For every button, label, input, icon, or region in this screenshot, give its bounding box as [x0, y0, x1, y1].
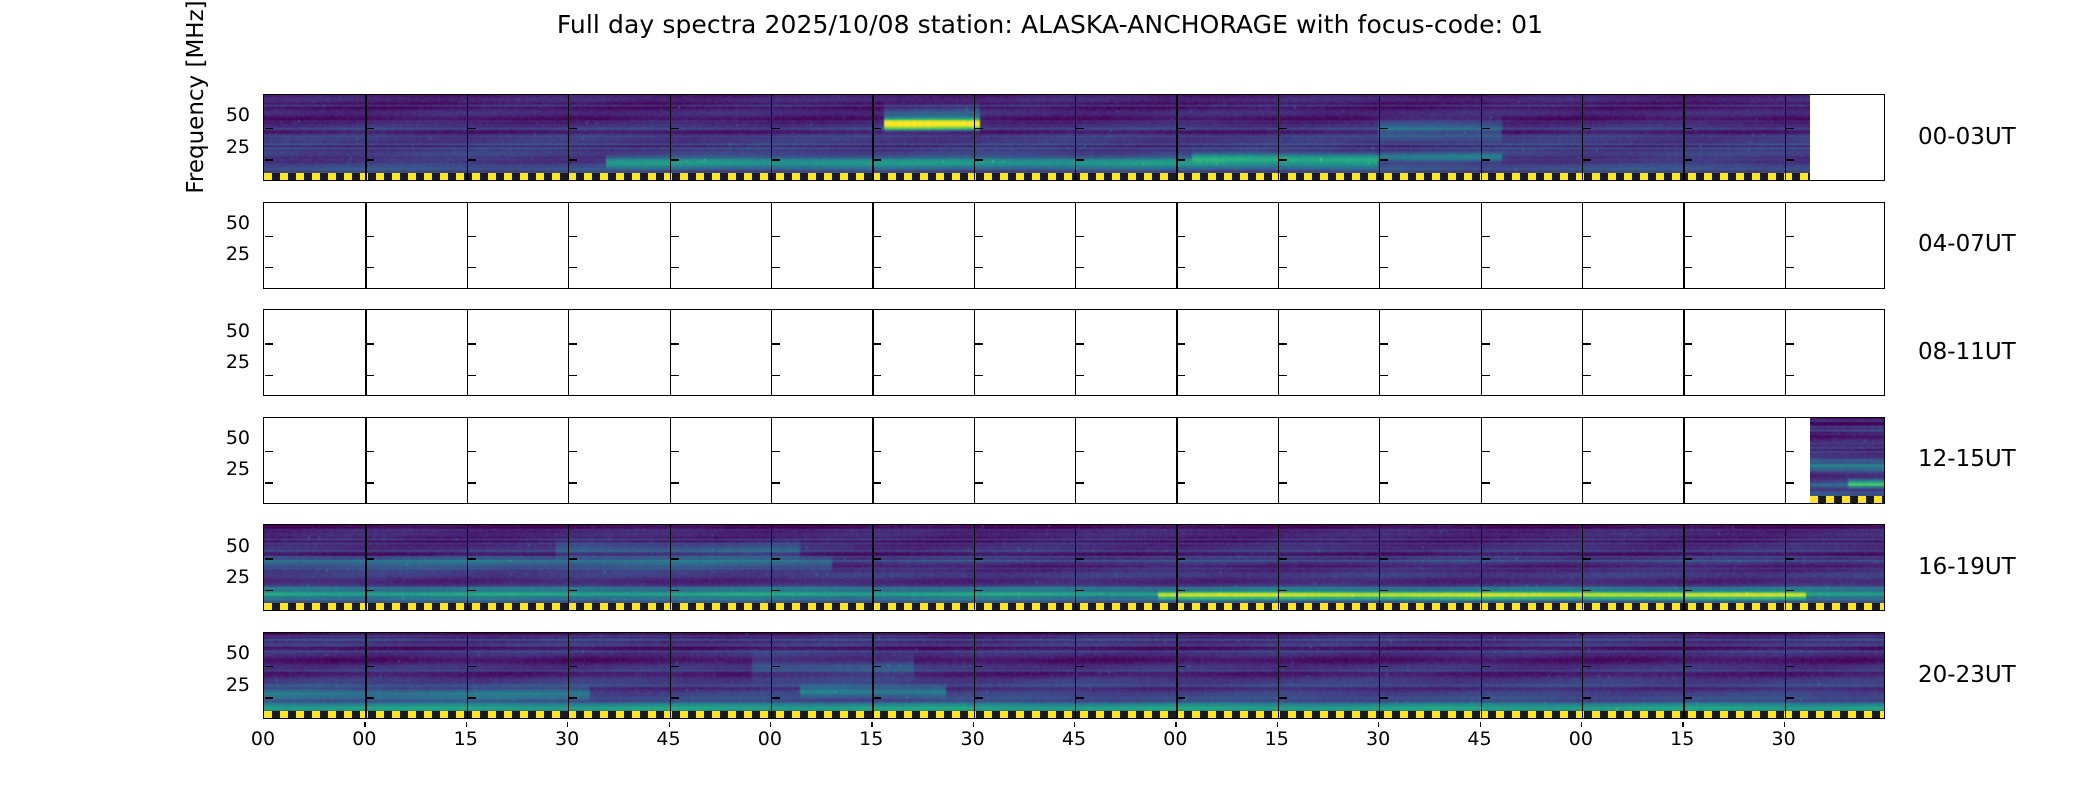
hour-separator	[1785, 525, 1786, 610]
hour-separator	[1582, 310, 1583, 395]
y-tick-mark	[468, 558, 476, 559]
y-tick-mark	[468, 159, 476, 160]
hour-separator	[1278, 95, 1279, 180]
x-tick-label: 45	[639, 728, 699, 750]
y-tick-mark	[1786, 267, 1794, 268]
y-tick-mark	[265, 558, 273, 559]
y-tick-mark	[1177, 590, 1185, 591]
hour-separator	[1176, 95, 1177, 180]
hour-separator	[670, 418, 671, 503]
hour-separator	[1481, 525, 1482, 610]
hour-separator	[1379, 95, 1380, 180]
y-tick-mark	[772, 697, 780, 698]
y-tick-mark	[1583, 128, 1591, 129]
x-tick-label: 30	[1348, 728, 1408, 750]
hour-separator	[1075, 203, 1076, 288]
y-tick-mark	[671, 482, 679, 483]
y-tick-mark	[975, 236, 983, 237]
status-marker-strip	[264, 173, 1810, 180]
y-tick-mark	[1076, 267, 1084, 268]
y-tick-mark	[873, 451, 881, 452]
y-tick-mark	[1482, 666, 1490, 667]
y-tick-mark	[569, 666, 577, 667]
y-tick-mark	[569, 236, 577, 237]
y-tick-mark	[1583, 590, 1591, 591]
x-tick-label: 15	[436, 728, 496, 750]
y-tick-mark	[265, 590, 273, 591]
y-tick-mark	[873, 697, 881, 698]
hour-separator	[1278, 310, 1279, 395]
y-tick-mark	[873, 343, 881, 344]
y-tick-mark	[1177, 343, 1185, 344]
y-tick-mark	[1583, 666, 1591, 667]
y-tick-mark	[569, 159, 577, 160]
y-tick-mark	[366, 666, 374, 667]
x-tick-mark	[1581, 722, 1582, 727]
y-tick-mark	[1786, 558, 1794, 559]
y-tick-mark	[1279, 590, 1287, 591]
y-tick-mark	[468, 267, 476, 268]
y-tick-mark	[1786, 236, 1794, 237]
x-axis: 00153045001530450015304500153000	[263, 722, 1885, 762]
x-tick-label: 00	[1551, 728, 1611, 750]
y-tick-mark	[1177, 697, 1185, 698]
y-tick-mark	[1177, 482, 1185, 483]
y-tick-label: 25	[0, 566, 250, 588]
y-tick-mark	[1380, 267, 1388, 268]
y-tick-mark	[1482, 236, 1490, 237]
hour-separator	[974, 633, 975, 718]
hour-separator	[1582, 95, 1583, 180]
hour-separator	[974, 525, 975, 610]
hour-separator	[1075, 310, 1076, 395]
hour-separator	[568, 203, 569, 288]
y-tick-mark	[1482, 697, 1490, 698]
row-plot-area	[263, 632, 1885, 719]
y-tick-mark	[1279, 343, 1287, 344]
hour-separator	[1176, 525, 1177, 610]
hour-separator	[1481, 310, 1482, 395]
y-tick-mark	[671, 558, 679, 559]
x-tick-label: 45	[1044, 728, 1104, 750]
spectrogram-figure: Full day spectra 2025/10/08 station: ALA…	[0, 0, 2100, 800]
y-tick-mark	[1076, 343, 1084, 344]
hour-separator	[467, 310, 468, 395]
x-tick-mark	[1784, 722, 1785, 727]
y-tick-mark	[1380, 666, 1388, 667]
y-tick-mark	[1380, 375, 1388, 376]
y-tick-mark	[772, 267, 780, 268]
x-tick-label: 15	[841, 728, 901, 750]
hour-separator	[365, 310, 366, 395]
y-tick-mark	[1684, 697, 1692, 698]
y-tick-mark	[1684, 159, 1692, 160]
hour-separator	[1683, 95, 1684, 180]
y-tick-mark	[1380, 236, 1388, 237]
hour-separator	[568, 633, 569, 718]
y-tick-mark	[1684, 666, 1692, 667]
y-tick-mark	[1786, 159, 1794, 160]
y-tick-mark	[1177, 375, 1185, 376]
y-tick-mark	[366, 558, 374, 559]
y-tick-mark	[1482, 482, 1490, 483]
hour-separator	[568, 525, 569, 610]
hour-separator	[1075, 633, 1076, 718]
x-tick-label: 15	[1247, 728, 1307, 750]
x-tick-label: 30	[537, 728, 597, 750]
hour-separator	[365, 203, 366, 288]
hour-separator	[1481, 95, 1482, 180]
hour-separator	[1683, 633, 1684, 718]
x-tick-label: 00	[740, 728, 800, 750]
hour-separator	[1785, 203, 1786, 288]
hour-separator	[467, 418, 468, 503]
y-tick-mark	[1279, 666, 1287, 667]
status-marker-strip	[1810, 496, 1885, 503]
hour-separator	[1176, 633, 1177, 718]
y-tick-mark	[1279, 159, 1287, 160]
y-tick-mark	[772, 590, 780, 591]
y-tick-mark	[265, 128, 273, 129]
hour-separator	[1379, 203, 1380, 288]
y-tick-mark	[265, 482, 273, 483]
hour-separator	[771, 633, 772, 718]
hour-separator	[1379, 310, 1380, 395]
y-tick-mark	[569, 697, 577, 698]
y-tick-mark	[1684, 590, 1692, 591]
y-tick-mark	[1684, 375, 1692, 376]
spectrogram-image	[1810, 418, 1885, 503]
x-tick-mark	[1277, 722, 1278, 727]
y-tick-mark	[873, 375, 881, 376]
y-tick-mark	[366, 590, 374, 591]
y-tick-mark	[468, 375, 476, 376]
hour-separator	[1075, 525, 1076, 610]
y-tick-mark	[569, 375, 577, 376]
hour-separator	[974, 203, 975, 288]
x-tick-mark	[669, 722, 670, 727]
x-tick-mark	[871, 722, 872, 727]
y-tick-mark	[1076, 159, 1084, 160]
y-tick-label: 25	[0, 674, 250, 696]
row-plot-area	[263, 94, 1885, 181]
spectrogram-row[interactable]	[263, 309, 1885, 396]
y-tick-mark	[1177, 159, 1185, 160]
y-tick-mark	[671, 590, 679, 591]
hour-separator	[872, 633, 873, 718]
hour-separator	[1176, 418, 1177, 503]
y-tick-mark	[1786, 666, 1794, 667]
y-tick-mark	[1177, 128, 1185, 129]
y-tick-mark	[468, 697, 476, 698]
row-time-label: 04-07UT	[1918, 231, 2016, 257]
row-plot-area	[263, 309, 1885, 396]
y-tick-mark	[1583, 451, 1591, 452]
spectrogram-row[interactable]	[263, 632, 1885, 719]
hour-separator	[1278, 525, 1279, 610]
y-tick-mark	[671, 375, 679, 376]
hour-separator	[467, 525, 468, 610]
y-tick-mark	[468, 590, 476, 591]
hour-separator	[1683, 525, 1684, 610]
x-tick-mark	[1480, 722, 1481, 727]
spectrogram-row[interactable]	[263, 202, 1885, 289]
y-tick-mark	[1786, 128, 1794, 129]
hour-separator	[670, 95, 671, 180]
y-tick-mark	[1279, 267, 1287, 268]
x-tick-mark	[1682, 722, 1683, 727]
y-tick-mark	[1076, 666, 1084, 667]
y-tick-mark	[1786, 375, 1794, 376]
y-tick-mark	[569, 343, 577, 344]
y-tick-mark	[1380, 590, 1388, 591]
y-tick-mark	[1482, 159, 1490, 160]
hour-separator	[1075, 418, 1076, 503]
y-tick-mark	[671, 267, 679, 268]
hour-separator	[1481, 418, 1482, 503]
y-tick-mark	[265, 697, 273, 698]
y-tick-mark	[1380, 697, 1388, 698]
spectrogram-image	[264, 95, 1810, 180]
hour-separator	[1683, 203, 1684, 288]
y-tick-mark	[873, 590, 881, 591]
y-tick-mark	[265, 267, 273, 268]
y-tick-mark	[366, 451, 374, 452]
hour-separator	[467, 633, 468, 718]
y-tick-mark	[975, 451, 983, 452]
hour-separator	[1278, 203, 1279, 288]
row-time-label: 08-11UT	[1918, 339, 2016, 365]
hour-separator	[1683, 310, 1684, 395]
y-tick-mark	[1786, 451, 1794, 452]
hour-separator	[1785, 633, 1786, 718]
hour-separator	[771, 95, 772, 180]
y-tick-label: 50	[0, 535, 250, 557]
hour-separator	[1785, 310, 1786, 395]
x-tick-mark	[466, 722, 467, 727]
y-tick-mark	[772, 558, 780, 559]
hour-separator	[1582, 418, 1583, 503]
y-tick-label: 50	[0, 320, 250, 342]
y-tick-mark	[1380, 558, 1388, 559]
y-tick-mark	[468, 236, 476, 237]
y-tick-mark	[265, 236, 273, 237]
y-tick-mark	[1076, 558, 1084, 559]
y-tick-mark	[1583, 697, 1591, 698]
hour-separator	[872, 310, 873, 395]
y-tick-mark	[265, 343, 273, 344]
y-tick-mark	[873, 666, 881, 667]
y-tick-mark	[975, 697, 983, 698]
y-tick-mark	[772, 128, 780, 129]
y-tick-mark	[468, 343, 476, 344]
hour-separator	[1582, 525, 1583, 610]
hour-separator	[771, 310, 772, 395]
y-tick-mark	[569, 590, 577, 591]
hour-separator	[872, 418, 873, 503]
y-tick-mark	[569, 558, 577, 559]
x-tick-label: 00	[233, 728, 293, 750]
y-tick-mark	[468, 482, 476, 483]
y-tick-mark	[975, 267, 983, 268]
hour-separator	[1683, 418, 1684, 503]
y-tick-mark	[1076, 590, 1084, 591]
spectrogram-row[interactable]	[263, 417, 1885, 504]
hour-separator	[1785, 95, 1786, 180]
y-tick-mark	[366, 236, 374, 237]
row-plot-area	[263, 202, 1885, 289]
y-tick-mark	[873, 482, 881, 483]
hour-separator	[872, 525, 873, 610]
row-time-label: 12-15UT	[1918, 446, 2016, 472]
x-tick-label: 15	[1652, 728, 1712, 750]
hour-separator	[1379, 633, 1380, 718]
hour-separator	[568, 95, 569, 180]
x-tick-mark	[770, 722, 771, 727]
y-tick-mark	[1380, 482, 1388, 483]
y-tick-mark	[772, 236, 780, 237]
x-tick-label: 30	[943, 728, 1003, 750]
x-tick-mark	[364, 722, 365, 727]
y-tick-mark	[975, 666, 983, 667]
hour-separator	[670, 525, 671, 610]
hour-separator	[1481, 633, 1482, 718]
hour-separator	[1278, 418, 1279, 503]
hour-separator	[467, 203, 468, 288]
x-tick-label: 45	[1450, 728, 1510, 750]
y-tick-label: 25	[0, 458, 250, 480]
y-tick-mark	[366, 697, 374, 698]
hour-separator	[670, 633, 671, 718]
y-tick-mark	[1684, 343, 1692, 344]
y-tick-mark	[975, 343, 983, 344]
hour-separator	[974, 418, 975, 503]
y-tick-mark	[1482, 590, 1490, 591]
row-plot-area	[263, 417, 1885, 504]
row-time-label: 16-19UT	[1918, 554, 2016, 580]
y-tick-mark	[1380, 451, 1388, 452]
spectrogram-row[interactable]	[263, 94, 1885, 181]
y-tick-mark	[671, 128, 679, 129]
row-data-region	[1810, 418, 1885, 503]
y-tick-mark	[671, 697, 679, 698]
y-tick-mark	[1177, 666, 1185, 667]
y-tick-mark	[1076, 128, 1084, 129]
hour-separator	[771, 203, 772, 288]
y-tick-mark	[1076, 451, 1084, 452]
y-tick-mark	[1279, 236, 1287, 237]
y-tick-label: 50	[0, 427, 250, 449]
y-tick-mark	[671, 343, 679, 344]
y-tick-mark	[1076, 482, 1084, 483]
y-tick-mark	[975, 482, 983, 483]
y-tick-mark	[1482, 343, 1490, 344]
hour-separator	[1379, 525, 1380, 610]
y-tick-mark	[772, 375, 780, 376]
x-tick-mark	[567, 722, 568, 727]
y-tick-mark	[1482, 128, 1490, 129]
panel-grid	[263, 94, 1885, 719]
y-tick-label: 50	[0, 212, 250, 234]
y-tick-mark	[671, 666, 679, 667]
y-tick-mark	[772, 451, 780, 452]
y-tick-mark	[1482, 375, 1490, 376]
y-tick-mark	[366, 128, 374, 129]
y-tick-mark	[366, 159, 374, 160]
figure-title: Full day spectra 2025/10/08 station: ALA…	[0, 10, 2100, 39]
y-tick-mark	[873, 159, 881, 160]
y-tick-mark	[1684, 451, 1692, 452]
hour-separator	[1075, 95, 1076, 180]
y-tick-mark	[1684, 482, 1692, 483]
y-tick-mark	[671, 451, 679, 452]
y-tick-mark	[1076, 236, 1084, 237]
y-tick-mark	[366, 482, 374, 483]
row-data-region	[264, 95, 1810, 180]
hour-separator	[365, 633, 366, 718]
y-tick-mark	[366, 267, 374, 268]
y-tick-mark	[468, 666, 476, 667]
y-tick-mark	[569, 267, 577, 268]
y-tick-mark	[1583, 343, 1591, 344]
y-tick-mark	[1583, 236, 1591, 237]
y-tick-mark	[1684, 267, 1692, 268]
hour-separator	[1582, 633, 1583, 718]
y-tick-mark	[1279, 451, 1287, 452]
y-tick-mark	[975, 128, 983, 129]
spectrogram-row[interactable]	[263, 524, 1885, 611]
hour-separator	[568, 418, 569, 503]
y-tick-mark	[671, 159, 679, 160]
y-tick-mark	[569, 128, 577, 129]
y-tick-mark	[975, 375, 983, 376]
y-tick-mark	[265, 451, 273, 452]
y-tick-mark	[1583, 375, 1591, 376]
y-tick-mark	[1076, 375, 1084, 376]
y-tick-mark	[1583, 482, 1591, 483]
y-tick-mark	[1684, 128, 1692, 129]
row-time-label: 20-23UT	[1918, 662, 2016, 688]
y-tick-mark	[772, 343, 780, 344]
x-tick-label: 30	[1754, 728, 1814, 750]
y-tick-mark	[1279, 697, 1287, 698]
y-tick-mark	[1279, 558, 1287, 559]
y-tick-mark	[1684, 236, 1692, 237]
y-tick-mark	[772, 482, 780, 483]
hour-separator	[1582, 203, 1583, 288]
y-tick-mark	[1786, 482, 1794, 483]
hour-separator	[1785, 418, 1786, 503]
x-tick-label: 00	[1145, 728, 1205, 750]
hour-separator	[467, 95, 468, 180]
y-tick-mark	[772, 666, 780, 667]
hour-separator	[568, 310, 569, 395]
y-tick-mark	[1279, 128, 1287, 129]
y-tick-mark	[468, 128, 476, 129]
y-tick-mark	[1177, 451, 1185, 452]
hour-separator	[670, 203, 671, 288]
y-tick-mark	[1279, 375, 1287, 376]
hour-separator	[872, 95, 873, 180]
x-tick-mark	[1378, 722, 1379, 727]
hour-separator	[1176, 310, 1177, 395]
y-tick-label: 25	[0, 243, 250, 265]
hour-separator	[771, 525, 772, 610]
hour-separator	[974, 310, 975, 395]
y-tick-mark	[975, 590, 983, 591]
y-tick-mark	[873, 558, 881, 559]
y-tick-mark	[873, 267, 881, 268]
